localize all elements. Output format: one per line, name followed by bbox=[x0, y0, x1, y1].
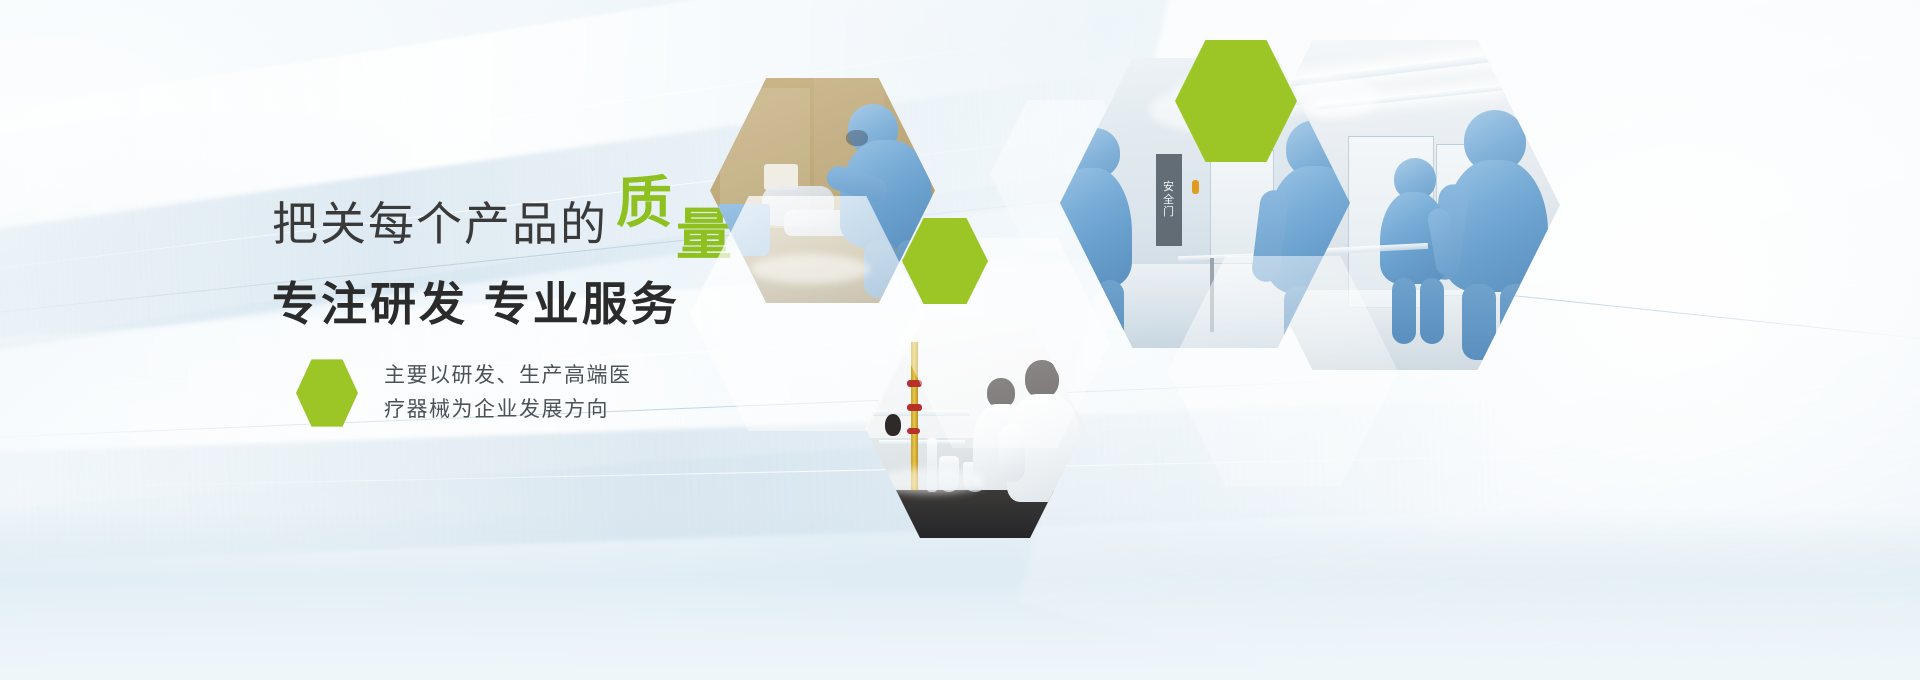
description-line-2: 疗器械为企业发展方向 bbox=[384, 393, 632, 427]
sign-char-2: 全 bbox=[1163, 194, 1175, 207]
safety-door-sign: 安 全 门 bbox=[1156, 154, 1182, 246]
sign-char-3: 门 bbox=[1163, 206, 1175, 219]
hero-banner: 把关每个产品的质量问题 专注研发 专业服务 主要以研发、生产高端医 疗器械为企业… bbox=[0, 0, 1920, 680]
banner-description: 主要以研发、生产高端医 疗器械为企业发展方向 bbox=[384, 359, 632, 427]
headline-accent-first: 质 bbox=[616, 158, 672, 239]
banner-description-row: 主要以研发、生产高端医 疗器械为企业发展方向 bbox=[296, 358, 632, 428]
hexagon-bullet-icon bbox=[296, 358, 358, 428]
headline-prefix: 把关每个产品的 bbox=[272, 186, 608, 262]
hexagon-photo-collage: 安 全 门 bbox=[690, 0, 1920, 680]
description-line-1: 主要以研发、生产高端医 bbox=[384, 359, 632, 393]
sign-char-1: 安 bbox=[1163, 181, 1175, 194]
